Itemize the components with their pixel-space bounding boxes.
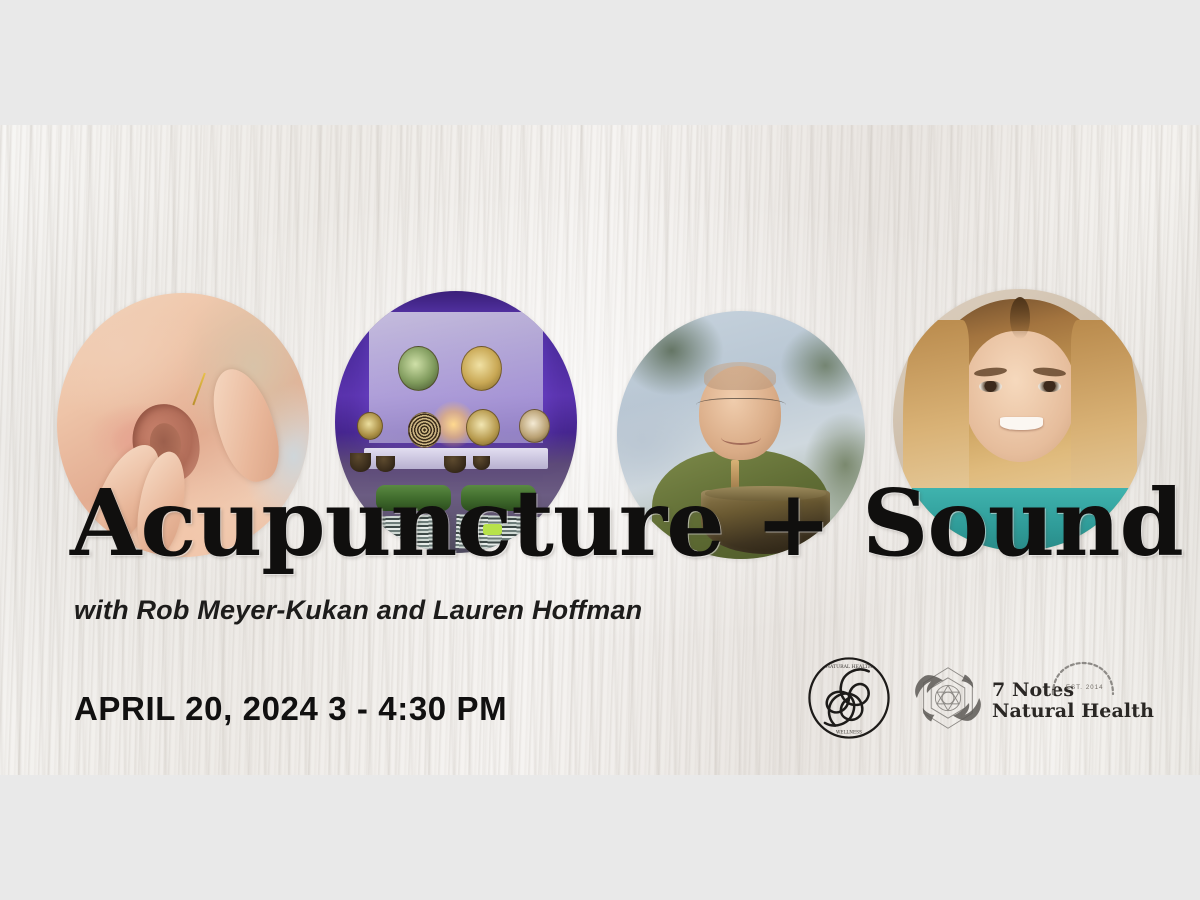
glasses [696, 398, 785, 415]
triple-spiral-logo-icon: NATURAL HEALTH WELLNESS [806, 655, 892, 741]
seven-notes-wordmark: 7 Notes EST. 2014 Natural Health [992, 674, 1154, 723]
svg-text:NATURAL HEALTH: NATURAL HEALTH [826, 664, 872, 670]
seven-notes-logo: 7 Notes EST. 2014 Natural Health [906, 656, 1154, 740]
gong [461, 346, 502, 391]
gong [519, 409, 550, 443]
face-shape [964, 331, 1076, 462]
mandala-emblem-icon [906, 656, 990, 740]
smile [1000, 417, 1043, 430]
gong [466, 409, 500, 446]
eye [1038, 381, 1061, 393]
smile [721, 430, 761, 445]
event-datetime: APRIL 20, 2024 3 - 4:30 PM [74, 690, 507, 728]
hair-part [1010, 297, 1030, 339]
presenters-subtitle: with Rob Meyer-Kukan and Lauren Hoffman [74, 595, 642, 626]
svg-text:WELLNESS: WELLNESS [836, 730, 862, 735]
logo-area: NATURAL HEALTH WELLNESS [806, 646, 1146, 750]
seven-notes-line2: Natural Health [992, 701, 1154, 722]
established-text: EST. 2014 [1066, 685, 1104, 692]
screenshot-canvas: Acupuncture + Sound with Rob Meyer-Kukan… [0, 0, 1200, 900]
acupuncture-needle [192, 373, 206, 406]
page-title: Acupuncture + Sound [70, 477, 1183, 569]
event-flyer: Acupuncture + Sound with Rob Meyer-Kukan… [0, 125, 1200, 775]
photo-row [0, 125, 1200, 455]
gong [398, 346, 439, 391]
